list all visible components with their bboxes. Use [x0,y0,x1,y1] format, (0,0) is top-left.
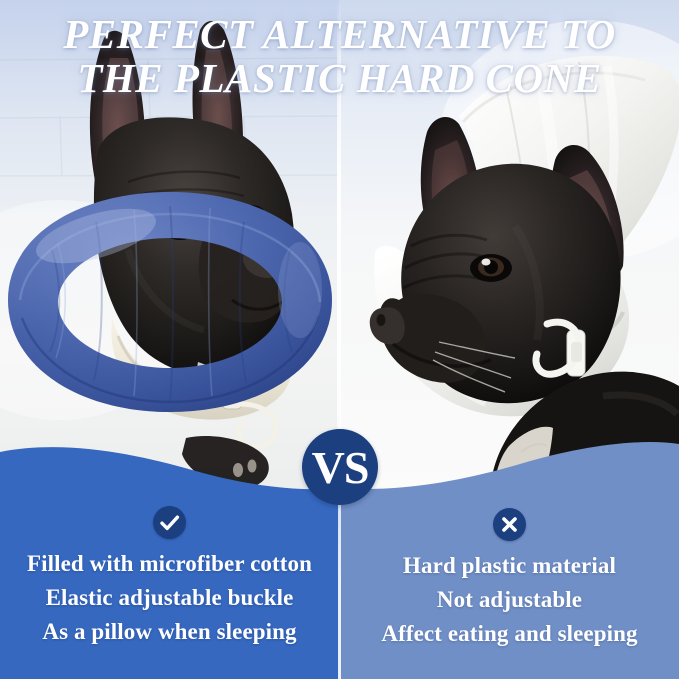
pros-list: Filled with microfiber cotton Elastic ad… [0,547,339,649]
list-item: Filled with microfiber cotton [0,547,339,581]
cons-list: Hard plastic material Not adjustable Aff… [340,549,679,651]
list-item: Hard plastic material [340,549,679,583]
vs-badge: VS [302,429,378,505]
list-item: Elastic adjustable buckle [0,581,339,615]
panel-divider [338,481,341,679]
list-item: As a pillow when sleeping [0,615,339,649]
check-circle-icon [153,506,186,539]
x-circle-icon [493,508,526,541]
vs-label: VS [302,429,378,505]
pros-panel: Filled with microfiber cotton Elastic ad… [0,489,339,679]
product-comparison-poster: PERFECT ALTERNATIVE TO THE PLASTIC HARD … [0,0,679,679]
cons-panel: Hard plastic material Not adjustable Aff… [340,489,679,679]
list-item: Not adjustable [340,583,679,617]
list-item: Affect eating and sleeping [340,617,679,651]
